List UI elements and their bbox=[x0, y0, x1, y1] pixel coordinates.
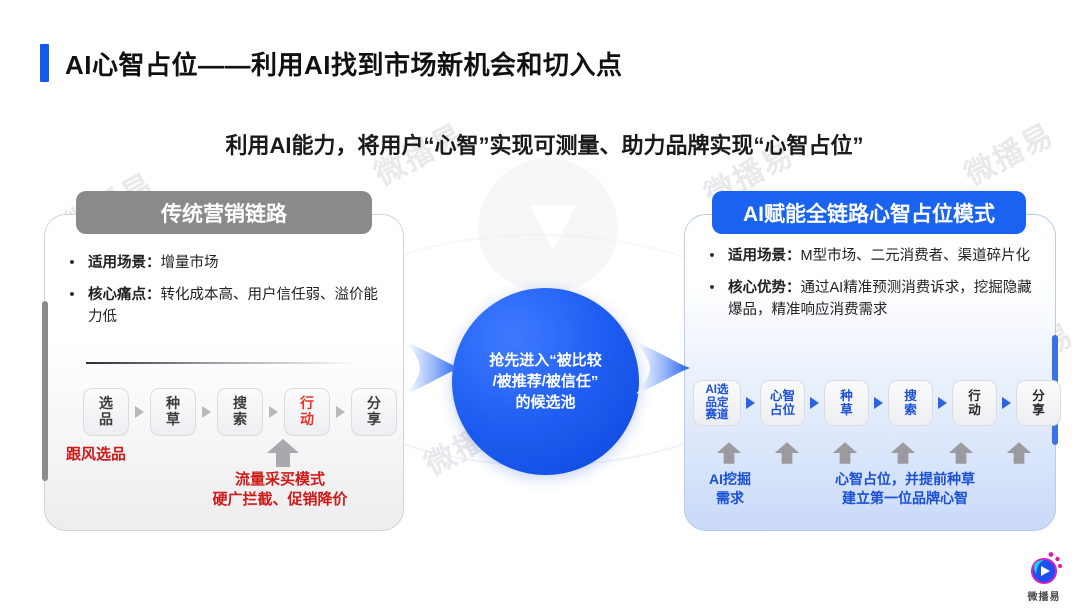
funnel-chip-ai-2[interactable]: 心智占位 bbox=[760, 380, 805, 426]
chip-label-line: 选 bbox=[99, 396, 113, 412]
up-arrow-slot bbox=[990, 440, 1048, 466]
circle-line-1: 抢先进入“被比较 bbox=[489, 350, 602, 371]
page-title-row: AI心智占位——利用AI找到市场新机会和切入点 bbox=[40, 44, 623, 82]
chip-label-line: 种 bbox=[166, 396, 180, 412]
bullet-item: • 核心痛点：转化成本高、用户信任弱、溢价能力低 bbox=[66, 284, 388, 329]
chip-label-line: 搜 bbox=[904, 389, 917, 403]
watermark-play-mark bbox=[468, 150, 628, 300]
caption-line-1: 心智占位，并提前种草 bbox=[780, 470, 1030, 489]
chip-arrow-icon bbox=[202, 406, 211, 418]
caption-line-1: AI挖掘 bbox=[694, 470, 766, 489]
funnel-chip-traditional-4[interactable]: 行动 bbox=[284, 388, 330, 436]
brand-name: 微播易 bbox=[1013, 588, 1075, 603]
bullet-text: 核心优势：通过AI精准预测消费诉求，挖掘隐藏爆品，精准响应消费需求 bbox=[728, 277, 1046, 322]
bullet-text: 核心痛点：转化成本高、用户信任弱、溢价能力低 bbox=[88, 284, 388, 329]
funnel-chip-traditional-1[interactable]: 选品 bbox=[83, 388, 129, 436]
traditional-caption-bottom: 流量采买模式 硬广拦截、促销降价 bbox=[170, 470, 390, 511]
funnel-chip-traditional-5[interactable]: 分享 bbox=[351, 388, 397, 436]
chip-label-line: 搜 bbox=[233, 396, 247, 412]
chip-arrow-icon bbox=[938, 397, 947, 409]
chip-label-line: 草 bbox=[166, 412, 180, 428]
bullet-item: • 核心优势：通过AI精准预测消费诉求，挖掘隐藏爆品，精准响应消费需求 bbox=[706, 277, 1046, 322]
caption-line-1: 流量采买模式 bbox=[170, 470, 390, 490]
funnel-chip-traditional-2[interactable]: 种草 bbox=[150, 388, 196, 436]
ai-caption-left: AI挖掘 需求 bbox=[694, 470, 766, 508]
chip-label-line: AI选 bbox=[706, 384, 729, 397]
up-arrow-slot bbox=[932, 440, 990, 466]
chip-label-line: 动 bbox=[968, 403, 981, 417]
traditional-marketing-bullets: • 适用场景：增量市场 • 核心痛点：转化成本高、用户信任弱、溢价能力低 bbox=[66, 252, 388, 337]
funnel-chip-ai-4[interactable]: 搜索 bbox=[888, 380, 933, 426]
chip-label-line: 种 bbox=[840, 389, 853, 403]
up-arrow-slot bbox=[758, 440, 816, 466]
up-arrow-icon bbox=[948, 440, 974, 466]
opportunity-circle-text: 抢先进入“被比较 /被推荐/被信任” 的候选池 bbox=[479, 350, 612, 414]
traditional-funnel-chips: 选品种草搜索行动分享 bbox=[83, 388, 397, 436]
chip-label-line: 品 bbox=[99, 412, 113, 428]
funnel-chip-ai-6[interactable]: 分享 bbox=[1016, 380, 1061, 426]
up-arrow-icon bbox=[716, 440, 742, 466]
page-subtitle: 利用AI能力，将用户“心智”实现可测量、助力品牌实现“心智占位” bbox=[0, 128, 1089, 160]
chip-label-line: 享 bbox=[367, 412, 381, 428]
flow-arrow-right-icon bbox=[634, 340, 694, 396]
brand-logo: 微播易 bbox=[1013, 551, 1075, 603]
bullet-item: • 适用场景：增量市场 bbox=[66, 252, 388, 275]
up-arrow-icon bbox=[1006, 440, 1032, 466]
caption-line-2: 需求 bbox=[694, 489, 766, 508]
bullet-dot: • bbox=[706, 245, 718, 268]
title-accent-bar bbox=[40, 44, 49, 82]
up-arrow-icon bbox=[890, 440, 916, 466]
traditional-marketing-header: 传统营销链路 bbox=[76, 191, 372, 234]
chip-label-line: 占位 bbox=[770, 403, 795, 417]
bullet-body: M型市场、二元消费者、渠道碎片化 bbox=[801, 248, 1031, 264]
up-arrow-icon bbox=[266, 438, 300, 468]
funnel-chip-traditional-3[interactable]: 搜索 bbox=[217, 388, 263, 436]
slide-canvas: 微播易微播易微播易微播易微播易微播易微播易 AI心智占位——利用AI找到市场新机… bbox=[0, 0, 1089, 611]
funnel-chip-ai-3[interactable]: 种草 bbox=[824, 380, 869, 426]
opportunity-circle: 抢先进入“被比较 /被推荐/被信任” 的候选池 bbox=[452, 288, 639, 475]
chip-label-line: 分 bbox=[1032, 389, 1045, 403]
left-card-divider bbox=[86, 362, 356, 364]
funnel-chip-ai-1[interactable]: AI选品定赛道 bbox=[693, 380, 741, 426]
chip-arrow-icon bbox=[336, 406, 345, 418]
flow-arrow-left-icon bbox=[404, 340, 464, 396]
chip-label-line: 心智 bbox=[770, 389, 795, 403]
bullet-body: 增量市场 bbox=[161, 255, 219, 271]
ai-enabled-header: AI赋能全链路心智占位模式 bbox=[712, 191, 1026, 234]
bullet-text: 适用场景：增量市场 bbox=[88, 252, 388, 275]
chip-label-line: 动 bbox=[300, 412, 314, 428]
traditional-caption-left: 跟风选品 bbox=[66, 443, 126, 464]
up-arrow-slot bbox=[700, 440, 758, 466]
ai-enabled-bullets: • 适用场景：M型市场、二元消费者、渠道碎片化 • 核心优势：通过AI精准预测消… bbox=[706, 245, 1046, 330]
chip-arrow-icon bbox=[1002, 397, 1011, 409]
up-arrow-slot bbox=[816, 440, 874, 466]
ai-up-arrows bbox=[700, 440, 1050, 466]
up-arrow-icon bbox=[774, 440, 800, 466]
chip-arrow-icon bbox=[269, 406, 278, 418]
chip-label-line: 赛道 bbox=[706, 409, 729, 422]
circle-line-2: /被推荐/被信任” bbox=[489, 371, 602, 392]
funnel-chip-ai-5[interactable]: 行动 bbox=[952, 380, 997, 426]
bullet-dot: • bbox=[66, 252, 78, 275]
bullet-label: 适用场景： bbox=[728, 248, 801, 264]
bullet-label: 核心痛点： bbox=[88, 287, 161, 303]
chip-arrow-icon bbox=[810, 397, 819, 409]
chip-label-line: 享 bbox=[1032, 403, 1045, 417]
chip-arrow-icon bbox=[874, 397, 883, 409]
bullet-text: 适用场景：M型市场、二元消费者、渠道碎片化 bbox=[728, 245, 1046, 268]
page-title: AI心智占位——利用AI找到市场新机会和切入点 bbox=[65, 45, 623, 82]
caption-line-2: 硬广拦截、促销降价 bbox=[170, 490, 390, 510]
chip-label-line: 草 bbox=[840, 403, 853, 417]
chip-arrow-icon bbox=[135, 406, 144, 418]
chip-label-line: 索 bbox=[904, 403, 917, 417]
bullet-dot: • bbox=[66, 284, 78, 329]
ai-funnel-chips: AI选品定赛道心智占位种草搜索行动分享 bbox=[693, 380, 1061, 426]
chip-label-line: 行 bbox=[300, 396, 314, 412]
bullet-label: 核心优势： bbox=[728, 280, 801, 296]
circle-line-3: 的候选池 bbox=[489, 392, 602, 413]
chip-arrow-icon bbox=[746, 397, 755, 409]
chip-label-line: 行 bbox=[968, 389, 981, 403]
caption-line-2: 建立第一位品牌心智 bbox=[780, 489, 1030, 508]
up-arrow-icon bbox=[832, 440, 858, 466]
bullet-item: • 适用场景：M型市场、二元消费者、渠道碎片化 bbox=[706, 245, 1046, 268]
up-arrow-slot bbox=[874, 440, 932, 466]
ai-caption-right: 心智占位，并提前种草 建立第一位品牌心智 bbox=[780, 470, 1030, 508]
bullet-label: 适用场景： bbox=[88, 255, 161, 271]
play-button-icon bbox=[1024, 551, 1064, 587]
chip-label-line: 索 bbox=[233, 412, 247, 428]
chip-label-line: 品定 bbox=[706, 397, 729, 410]
bullet-dot: • bbox=[706, 277, 718, 322]
chip-label-line: 分 bbox=[367, 396, 381, 412]
